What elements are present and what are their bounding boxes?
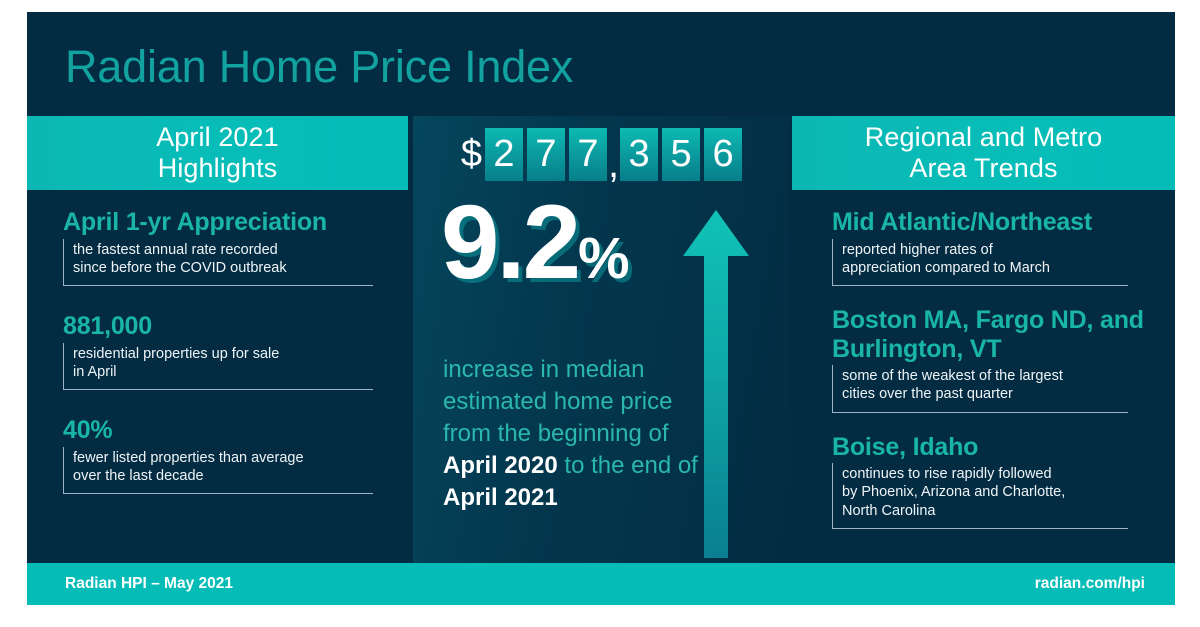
- description-date-start: April 2020: [443, 452, 558, 479]
- stat-body: reported higher rates of appreciation co…: [832, 239, 1128, 287]
- stat-heading: Mid Atlantic/Northeast: [832, 208, 1175, 237]
- stat-body: some of the weakest of the largest citie…: [832, 365, 1128, 413]
- stat-heading: Boise, Idaho: [832, 433, 1175, 462]
- stat-body-line: continues to rise rapidly followed: [842, 465, 1128, 483]
- percent-sign: %: [578, 226, 629, 291]
- left-highlights-column: April 2021 Highlights April 1-yr Appreci…: [27, 116, 408, 567]
- stat-body: fewer listed properties than average ove…: [63, 447, 373, 495]
- left-banner-text: April 2021 Highlights: [156, 122, 279, 185]
- stat-body-line: over the last decade: [73, 467, 373, 485]
- price-digit: 5: [662, 128, 700, 181]
- stat-body-line: by Phoenix, Arizona and Charlotte,: [842, 483, 1128, 501]
- currency-symbol: $: [461, 135, 482, 173]
- stat-body: continues to rise rapidly followed by Ph…: [832, 463, 1128, 529]
- right-banner-line2: Area Trends: [865, 153, 1102, 184]
- stat-body: residential properties up for sale in Ap…: [63, 343, 373, 391]
- stat-body-line: fewer listed properties than average: [73, 449, 373, 467]
- footer-url[interactable]: radian.com/hpi: [1035, 563, 1145, 605]
- stat-body-line: cities over the past quarter: [842, 385, 1128, 403]
- price-digit: 7: [527, 128, 565, 181]
- stat-body-line: reported higher rates of: [842, 241, 1128, 259]
- stat-heading: 881,000: [63, 312, 410, 341]
- list-item: Boise, Idaho continues to rise rapidly f…: [798, 433, 1175, 529]
- left-banner-line1: April 2021: [156, 122, 279, 153]
- description-date-end: April 2021: [443, 484, 558, 511]
- price-digit: 3: [620, 128, 658, 181]
- list-item: April 1-yr Appreciation the fastest annu…: [29, 208, 410, 286]
- left-banner-line2: Highlights: [156, 153, 279, 184]
- stat-body-line: appreciation compared to March: [842, 259, 1128, 277]
- right-banner: Regional and Metro Area Trends: [792, 116, 1175, 190]
- stat-body-line: in April: [73, 363, 373, 381]
- center-stats-column: $ 2 7 7 , 3 5 6 9.2% increase in median …: [413, 116, 790, 567]
- stat-body-line: North Carolina: [842, 502, 1128, 520]
- footer-source-label: Radian HPI – May 2021: [65, 563, 233, 605]
- stat-body-line: since before the COVID outbreak: [73, 259, 373, 277]
- price-digit: 6: [704, 128, 742, 181]
- description-seg3: to the end of: [558, 452, 698, 479]
- right-banner-text: Regional and Metro Area Trends: [865, 122, 1102, 185]
- stat-heading: Boston MA, Fargo ND, and Burlington, VT: [832, 306, 1175, 363]
- footer-bar: Radian HPI – May 2021 radian.com/hpi: [27, 563, 1175, 605]
- right-banner-line1: Regional and Metro: [865, 122, 1102, 153]
- appreciation-percent: 9.2%: [441, 190, 629, 295]
- price-digit: 2: [485, 128, 523, 181]
- right-trends-column: Regional and Metro Area Trends Mid Atlan…: [792, 116, 1175, 567]
- page-title: Radian Home Price Index: [65, 30, 865, 104]
- right-stat-list: Mid Atlantic/Northeast reported higher r…: [792, 208, 1175, 549]
- infographic-canvas: Radian Home Price Index April 2021 Highl…: [0, 0, 1200, 627]
- stat-body: the fastest annual rate recorded since b…: [63, 239, 373, 287]
- stat-body-line: the fastest annual rate recorded: [73, 241, 373, 259]
- price-separator: ,: [608, 144, 619, 186]
- list-item: Mid Atlantic/Northeast reported higher r…: [798, 208, 1175, 286]
- infographic-board: Radian Home Price Index April 2021 Highl…: [27, 12, 1175, 605]
- stat-heading: 40%: [63, 416, 410, 445]
- stat-heading: April 1-yr Appreciation: [63, 208, 410, 237]
- stat-body-line: some of the weakest of the largest: [842, 367, 1128, 385]
- percent-number: 9.2: [441, 184, 578, 301]
- left-stat-list: April 1-yr Appreciation the fastest annu…: [27, 208, 410, 520]
- left-banner: April 2021 Highlights: [27, 116, 408, 190]
- list-item: 40% fewer listed properties than average…: [29, 416, 410, 494]
- median-price-display: $ 2 7 7 , 3 5 6: [413, 122, 790, 186]
- description-seg1: increase in median estimated home price …: [443, 356, 672, 447]
- list-item: 881,000 residential properties up for sa…: [29, 312, 410, 390]
- list-item: Boston MA, Fargo ND, and Burlington, VT …: [798, 306, 1175, 413]
- center-description: increase in median estimated home price …: [443, 354, 713, 514]
- up-arrow-icon: [683, 210, 749, 558]
- price-digit: 7: [569, 128, 607, 181]
- stat-body-line: residential properties up for sale: [73, 345, 373, 363]
